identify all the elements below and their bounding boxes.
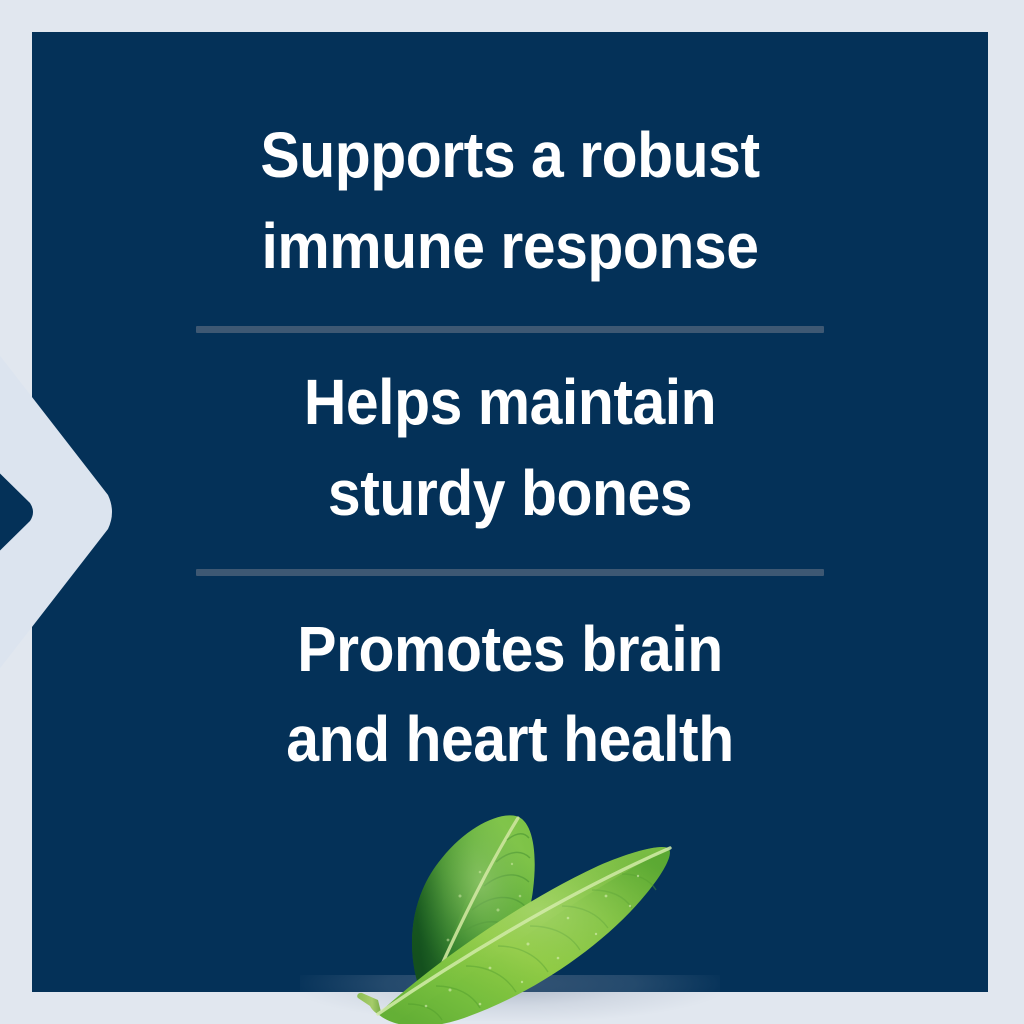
benefit-divider-2 [196,569,824,576]
benefit-item-brain-heart: Promotes brain and heart health [206,604,813,786]
benefit-item-bones: Helps maintain sturdy bones [206,357,813,539]
benefits-list: Supports a robust immune response Helps … [32,32,988,992]
benefit-item-immune: Supports a robust immune response [206,110,813,292]
benefits-card: Supports a robust immune response Helps … [0,0,1024,1024]
benefit-divider-1 [196,326,824,333]
